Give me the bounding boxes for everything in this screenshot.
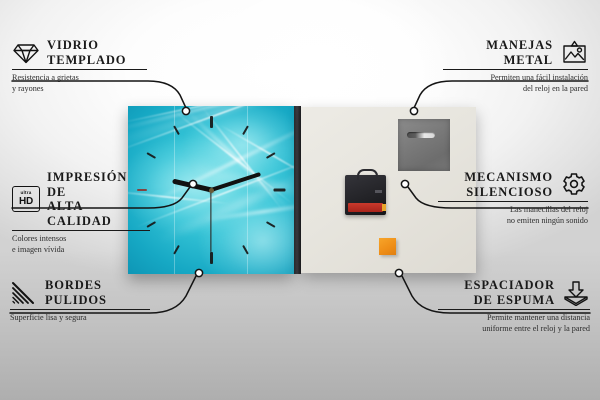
feature-description: Resistencia a grietas y rayones xyxy=(12,73,147,94)
clock-front-view xyxy=(128,106,294,274)
foam-spacer-icon xyxy=(562,279,590,307)
feature-description: Las manecillas del reloj no emiten ningú… xyxy=(438,205,588,226)
feature-description: Permite mantener una distancia uniforme … xyxy=(438,313,590,334)
feature-rule xyxy=(12,69,147,70)
feature-rule xyxy=(10,309,150,310)
feature-title: ESPACIADOR DE ESPUMA xyxy=(464,278,555,307)
feature-impresion-alta-calidad: ultra HD IMPRESIÓN DE ALTA CALIDAD Color… xyxy=(12,170,150,255)
feature-title: BORDES PULIDOS xyxy=(45,278,107,307)
glass-thickness-edge xyxy=(294,106,301,274)
polished-edges-icon xyxy=(10,279,38,307)
feature-espaciador-espuma: ESPACIADOR DE ESPUMA Permite mantener un… xyxy=(438,278,590,334)
foam-spacer xyxy=(379,238,396,255)
feature-title: VIDRIO TEMPLADO xyxy=(47,38,126,67)
clock-mechanism xyxy=(345,175,386,215)
feature-rule xyxy=(438,201,588,202)
feature-bordes-pulidos: BORDES PULIDOS Superficie lisa y segura xyxy=(10,278,150,324)
clock-center-cap xyxy=(209,188,214,193)
clock-tick xyxy=(273,189,285,192)
picture-hanger-icon xyxy=(560,39,588,67)
gear-icon xyxy=(560,171,588,199)
feature-mecanismo-silencioso: MECANISMO SILENCIOSO Las manecillas del … xyxy=(438,170,588,226)
product-images xyxy=(128,106,476,274)
mechanism-hanger-loop xyxy=(357,169,378,180)
feature-manejas-metal: MANEJAS METAL Permiten una fácil instala… xyxy=(443,38,588,94)
hd-badge-big-text: HD xyxy=(19,197,33,207)
feature-rule xyxy=(443,69,588,70)
metal-hanger-plate xyxy=(398,119,450,171)
clock-tick xyxy=(210,116,213,128)
feature-title: MANEJAS METAL xyxy=(486,38,553,67)
clock-tick xyxy=(210,252,213,264)
feature-description: Permiten una fácil instalación del reloj… xyxy=(443,73,588,94)
ultra-hd-icon: ultra HD xyxy=(12,185,40,213)
feature-title: MECANISMO SILENCIOSO xyxy=(464,170,553,199)
feature-vidrio-templado: VIDRIO TEMPLADO Resistencia a grietas y … xyxy=(12,38,147,94)
feature-rule xyxy=(12,230,150,231)
battery xyxy=(348,203,383,212)
product-feature-infographic: VIDRIO TEMPLADO Resistencia a grietas y … xyxy=(0,0,600,400)
feature-title: IMPRESIÓN DE ALTA CALIDAD xyxy=(47,170,150,228)
feature-description: Superficie lisa y segura xyxy=(10,313,150,324)
feature-description: Colores intensos e imagen vívida xyxy=(12,234,150,255)
diamond-icon xyxy=(12,39,40,67)
feature-rule xyxy=(438,309,590,310)
mechanism-detail xyxy=(375,190,382,193)
hanger-slot xyxy=(407,132,435,138)
